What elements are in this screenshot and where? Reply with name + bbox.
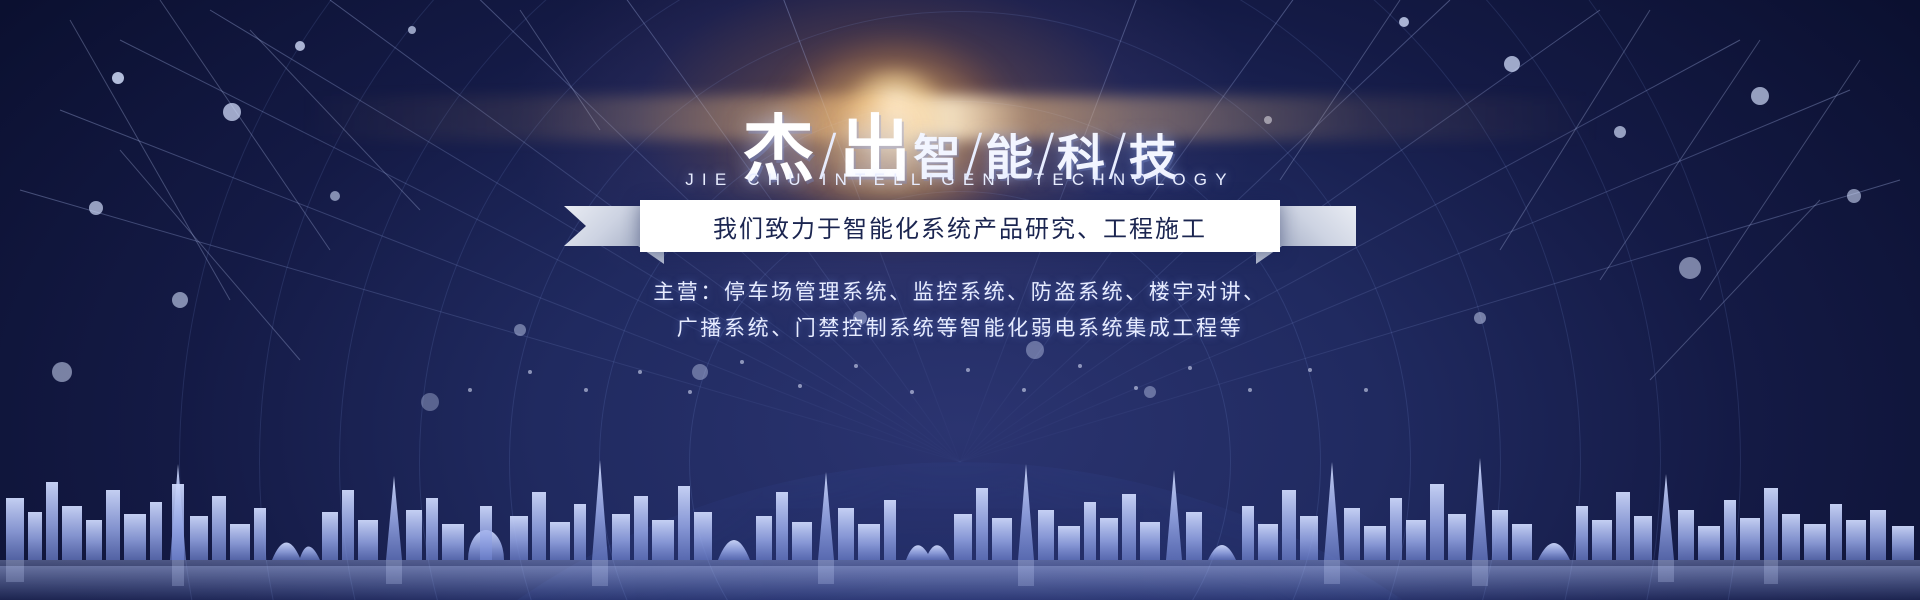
ribbon-tail-right (1280, 206, 1356, 246)
english-subtitle: JIE CHU INTELLIGENT TECHNOLOGY (0, 170, 1920, 190)
business-description: 主营：停车场管理系统、监控系统、防盗系统、楼宇对讲、 广播系统、门禁控制系统等智… (0, 274, 1920, 346)
ribbon-body: 我们致力于智能化系统产品研究、工程施工 (640, 200, 1280, 252)
banner-content: 杰/出智/能/科/技 JIE CHU INTELLIGENT TECHNOLOG… (0, 0, 1920, 600)
description-line-1: 主营：停车场管理系统、监控系统、防盗系统、楼宇对讲、 (0, 274, 1920, 310)
tagline-ribbon: 我们致力于智能化系统产品研究、工程施工 (640, 200, 1280, 252)
description-line-2: 广播系统、门禁控制系统等智能化弱电系统集成工程等 (0, 310, 1920, 346)
ribbon-tail-left (564, 206, 640, 246)
ribbon-text: 我们致力于智能化系统产品研究、工程施工 (713, 209, 1207, 244)
hero-banner: 杰/出智/能/科/技 JIE CHU INTELLIGENT TECHNOLOG… (0, 0, 1920, 600)
